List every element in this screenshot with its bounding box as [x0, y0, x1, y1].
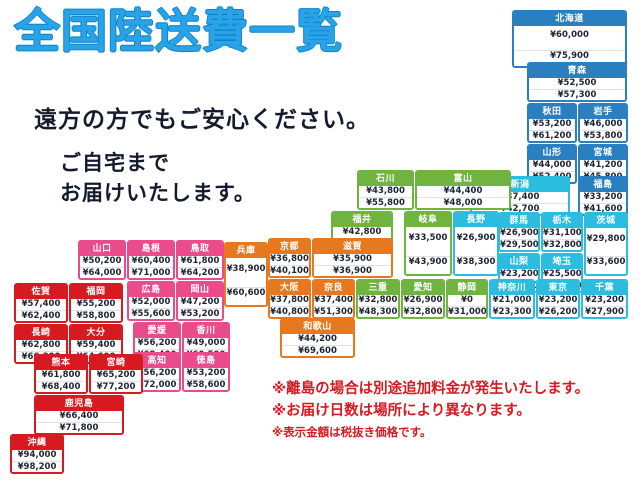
prefecture-box-wakayama: 和歌山¥44,200¥69,600 — [280, 318, 355, 358]
price-values: ¥52,500¥57,300 — [529, 78, 625, 101]
prefecture-box-kagoshima: 鹿児島¥66,400¥71,800 — [34, 395, 124, 435]
price-values: ¥55,200¥58,800 — [71, 299, 121, 322]
price-value-1: ¥56,200 — [135, 338, 179, 349]
price-values: ¥53,200¥61,200 — [529, 119, 575, 142]
footnote-3: ※表示金額は税抜き価格です。 — [272, 422, 636, 442]
price-value-1: ¥44,400 — [417, 186, 509, 197]
price-value-1: ¥29,800 — [586, 234, 626, 245]
price-value-1: ¥60,400 — [129, 256, 173, 267]
prefecture-box-fukushima: 福島¥33,200¥41,600 — [578, 176, 628, 216]
prefecture-box-gunma: 群馬¥26,900¥29,500 — [498, 212, 540, 252]
prefecture-name-label: 山口 — [80, 242, 124, 256]
prefecture-box-tokushima: 徳島¥53,200¥58,600 — [182, 352, 230, 392]
price-value-1: ¥47,200 — [178, 297, 222, 308]
prefecture-box-aomori: 青森¥52,500¥57,300 — [527, 62, 627, 102]
price-value-2: ¥23,300 — [491, 306, 533, 318]
price-value-1: ¥42,800 — [333, 227, 391, 238]
price-values: ¥61,800¥68,400 — [36, 370, 86, 393]
prefecture-box-nara: 奈良¥37,400¥51,300 — [312, 279, 355, 319]
prefecture-name-label: 岡山 — [178, 283, 222, 297]
prefecture-name-label: 広島 — [129, 283, 173, 297]
price-values: ¥46,000¥53,800 — [580, 119, 626, 142]
prefecture-box-saga: 佐賀¥57,400¥62,400 — [14, 283, 68, 323]
price-value-2: ¥26,200 — [538, 306, 578, 318]
prefecture-name-label: 福岡 — [71, 285, 121, 299]
prefecture-box-tottori: 鳥取¥61,800¥64,200 — [176, 240, 224, 280]
prefecture-name-label: 富山 — [417, 172, 509, 186]
price-value-1: ¥53,200 — [529, 119, 575, 130]
price-values: ¥43,800¥55,800 — [359, 186, 412, 209]
price-value-2: ¥61,200 — [529, 130, 575, 142]
price-value-1: ¥44,200 — [282, 334, 353, 345]
prefecture-name-label: 福井 — [333, 213, 391, 227]
prefecture-box-shiga: 滋賀¥35,900¥36,900 — [312, 238, 393, 278]
prefecture-box-kumamoto: 熊本¥61,800¥68,400 — [34, 354, 88, 394]
price-value-1: ¥32,800 — [358, 295, 398, 306]
prefecture-name-label: 和歌山 — [282, 320, 353, 334]
prefecture-name-label: 東京 — [538, 281, 578, 295]
price-values: ¥29,800¥33,600 — [586, 228, 626, 274]
price-values: ¥60,000¥75,900 — [514, 26, 625, 66]
price-values: ¥23,200¥26,200 — [538, 295, 578, 318]
price-value-1: ¥33,500 — [406, 233, 450, 244]
price-value-2: ¥48,000 — [417, 197, 509, 209]
prefecture-name-label: 熊本 — [36, 356, 86, 370]
prefecture-name-label: 島根 — [129, 242, 173, 256]
price-values: ¥44,200¥69,600 — [282, 334, 353, 357]
prefecture-box-hiroshima: 広島¥52,000¥55,600 — [127, 281, 175, 321]
price-values: ¥31,100¥32,800 — [543, 228, 581, 251]
prefecture-box-toyama: 富山¥44,400¥48,000 — [415, 170, 511, 210]
prefecture-name-label: 北海道 — [514, 12, 625, 26]
price-value-1: ¥31,100 — [543, 228, 581, 239]
prefecture-name-label: 静岡 — [448, 281, 486, 295]
price-value-2: ¥71,000 — [129, 267, 173, 279]
price-value-2: ¥38,300 — [455, 256, 497, 268]
price-values: ¥36,800¥40,100 — [270, 254, 309, 277]
prefecture-box-akita: 秋田¥53,200¥61,200 — [527, 103, 577, 143]
price-value-1: ¥50,200 — [80, 256, 124, 267]
price-value-1: ¥21,000 — [491, 295, 533, 306]
prefecture-box-gifu: 岐阜¥33,500¥43,900 — [404, 211, 452, 276]
prefecture-box-kanagawa: 神奈川¥21,000¥23,300 — [489, 279, 535, 319]
price-value-1: ¥23,200 — [538, 295, 578, 306]
price-value-2: ¥71,800 — [36, 422, 122, 434]
price-value-1: ¥0 — [448, 295, 486, 306]
price-value-1: ¥26,900 — [455, 233, 497, 244]
price-value-1: ¥94,000 — [12, 450, 62, 461]
price-value-2: ¥64,000 — [80, 267, 124, 279]
prefecture-box-chiba: 千葉¥23,200¥27,900 — [581, 279, 628, 319]
price-value-1: ¥52,500 — [529, 78, 625, 89]
prefecture-box-shizuoka: 静岡¥0¥31,000 — [446, 279, 488, 319]
prefecture-name-label: 宮城 — [580, 146, 626, 160]
prefecture-box-kyoto: 京都¥36,800¥40,100 — [268, 238, 311, 278]
price-values: ¥23,200¥27,900 — [583, 295, 626, 318]
prefecture-name-label: 山梨 — [500, 255, 538, 269]
prefecture-box-yamaguchi: 山口¥50,200¥64,000 — [78, 240, 126, 280]
prefecture-box-hokkaido: 北海道¥60,000¥75,900 — [512, 10, 627, 68]
prefecture-box-tokyo: 東京¥23,200¥26,200 — [536, 279, 580, 319]
price-values: ¥50,200¥64,000 — [80, 256, 124, 279]
price-value-2: ¥68,400 — [36, 381, 86, 393]
price-value-1: ¥37,800 — [270, 295, 309, 306]
price-values: ¥26,900¥38,300 — [455, 227, 497, 274]
price-value-2: ¥33,600 — [586, 256, 626, 268]
subtitle-line-2: ご自宅まで お届けいたします。 — [60, 148, 256, 208]
price-values: ¥26,900¥32,800 — [403, 295, 443, 318]
price-values: ¥32,800¥48,300 — [358, 295, 398, 318]
price-values: ¥21,000¥23,300 — [491, 295, 533, 318]
price-values: ¥57,400¥62,400 — [16, 299, 66, 322]
prefecture-name-label: 宮崎 — [91, 356, 141, 370]
prefecture-name-label: 愛媛 — [135, 324, 179, 338]
prefecture-name-label: 山形 — [529, 146, 575, 160]
prefecture-name-label: 滋賀 — [314, 240, 391, 254]
subtitle-line-1: 遠方の方でもご安心ください。 — [34, 100, 370, 134]
price-value-2: ¥69,600 — [282, 345, 353, 357]
prefecture-name-label: 岐阜 — [406, 213, 450, 227]
price-values: ¥26,900¥29,500 — [500, 228, 538, 251]
price-values: ¥33,500¥43,900 — [406, 227, 450, 274]
prefecture-box-shimane: 島根¥60,400¥71,000 — [127, 240, 175, 280]
prefecture-name-label: 栃木 — [543, 214, 581, 228]
price-value-2: ¥53,200 — [178, 308, 222, 320]
prefecture-name-label: 大分 — [71, 326, 121, 340]
prefecture-box-okinawa: 沖縄¥94,000¥98,200 — [10, 434, 64, 474]
prefecture-name-label: 福島 — [580, 178, 626, 192]
price-values: ¥38,900¥60,600 — [226, 258, 266, 305]
prefecture-box-hyogo: 兵庫¥38,900¥60,600 — [224, 242, 268, 307]
price-value-1: ¥52,000 — [129, 297, 173, 308]
price-value-2: ¥29,500 — [500, 239, 538, 251]
prefecture-name-label: 埼玉 — [543, 255, 581, 269]
price-values: ¥53,200¥58,600 — [184, 368, 228, 391]
price-value-1: ¥65,200 — [91, 370, 141, 381]
footnote-2: ※お届け日数は場所により異なります。 — [272, 400, 636, 422]
price-value-2: ¥60,600 — [226, 287, 266, 299]
price-value-2: ¥32,800 — [543, 239, 581, 251]
price-value-2: ¥62,400 — [16, 310, 66, 322]
price-value-1: ¥60,000 — [514, 30, 625, 41]
prefecture-name-label: 三重 — [358, 281, 398, 295]
prefecture-name-label: 愛知 — [403, 281, 443, 295]
price-values: ¥0¥31,000 — [448, 295, 486, 318]
price-value-1: ¥37,400 — [314, 295, 353, 306]
prefecture-name-label: 佐賀 — [16, 285, 66, 299]
price-value-2: ¥40,100 — [270, 265, 309, 277]
prefecture-name-label: 神奈川 — [491, 281, 533, 295]
price-values: ¥66,400¥71,800 — [36, 411, 122, 434]
subtitle-line-2a: ご自宅まで — [60, 148, 256, 178]
prefecture-name-label: 秋田 — [529, 105, 575, 119]
price-value-1: ¥57,400 — [16, 299, 66, 310]
footnote-list: ※離島の場合は別途追加料金が発生いたします。※お届け日数は場所により異なります。… — [272, 378, 636, 442]
prefecture-name-label: 青森 — [529, 64, 625, 78]
price-value-1: ¥41,200 — [580, 160, 626, 171]
price-values: ¥94,000¥98,200 — [12, 450, 62, 473]
prefecture-name-label: 沖縄 — [12, 436, 62, 450]
price-value-1: ¥26,900 — [500, 228, 538, 239]
price-value-2: ¥77,200 — [91, 381, 141, 393]
prefecture-name-label: 徳島 — [184, 354, 228, 368]
footnote-1: ※離島の場合は別途追加料金が発生いたします。 — [272, 378, 636, 400]
price-value-1: ¥53,200 — [184, 368, 228, 379]
price-value-1: ¥23,200 — [583, 295, 626, 306]
prefecture-box-aichi: 愛知¥26,900¥32,800 — [401, 279, 445, 319]
prefecture-box-mie: 三重¥32,800¥48,300 — [356, 279, 400, 319]
price-value-1: ¥61,800 — [178, 256, 222, 267]
prefecture-name-label: 群馬 — [500, 214, 538, 228]
price-values: ¥37,400¥51,300 — [314, 295, 353, 318]
price-value-2: ¥36,900 — [314, 265, 391, 277]
price-values: ¥44,400¥48,000 — [417, 186, 509, 209]
price-value-2: ¥32,800 — [403, 306, 443, 318]
prefecture-box-miyazaki: 宮崎¥65,200¥77,200 — [89, 354, 143, 394]
page-title: 全国陸送費一覧 — [14, 8, 343, 54]
prefecture-box-ishikawa: 石川¥43,800¥55,800 — [357, 170, 414, 210]
price-value-1: ¥44,000 — [529, 160, 575, 171]
price-values: ¥65,200¥77,200 — [91, 370, 141, 393]
price-values: ¥60,400¥71,000 — [129, 256, 173, 279]
price-values: ¥61,800¥64,200 — [178, 256, 222, 279]
prefecture-name-label: 茨城 — [586, 214, 626, 228]
price-value-2: ¥58,600 — [184, 379, 228, 391]
price-value-1: ¥36,800 — [270, 254, 309, 265]
price-value-1: ¥49,000 — [184, 338, 228, 349]
subtitle-line-2b: お届けいたします。 — [60, 178, 256, 208]
prefecture-name-label: 長崎 — [16, 326, 66, 340]
price-value-1: ¥55,200 — [71, 299, 121, 310]
price-value-1: ¥38,900 — [226, 264, 266, 275]
shipping-fee-infographic: 全国陸送費一覧 遠方の方でもご安心ください。 ご自宅まで お届けいたします。 北… — [0, 0, 640, 480]
prefecture-box-fukuoka: 福岡¥55,200¥58,800 — [69, 283, 123, 323]
prefecture-name-label: 香川 — [184, 324, 228, 338]
price-value-1: ¥61,800 — [36, 370, 86, 381]
prefecture-name-label: 鹿児島 — [36, 397, 122, 411]
price-value-2: ¥31,000 — [448, 306, 486, 318]
price-value-2: ¥64,200 — [178, 267, 222, 279]
price-values: ¥37,800¥40,800 — [270, 295, 309, 318]
prefecture-name-label: 岩手 — [580, 105, 626, 119]
price-value-2: ¥43,900 — [406, 256, 450, 268]
prefecture-box-tochigi: 栃木¥31,100¥32,800 — [541, 212, 583, 252]
prefecture-name-label: 大阪 — [270, 281, 309, 295]
price-value-1: ¥43,800 — [359, 186, 412, 197]
prefecture-name-label: 兵庫 — [226, 244, 266, 258]
prefecture-box-okayama: 岡山¥47,200¥53,200 — [176, 281, 224, 321]
price-value-1: ¥35,900 — [314, 254, 391, 265]
price-value-2: ¥58,800 — [71, 310, 121, 322]
price-value-1: ¥46,000 — [580, 119, 626, 130]
prefecture-name-label: 長野 — [455, 213, 497, 227]
price-value-2: ¥40,800 — [270, 306, 309, 318]
prefecture-name-label: 奈良 — [314, 281, 353, 295]
prefecture-box-nagano: 長野¥26,900¥38,300 — [453, 211, 499, 276]
price-values: ¥35,900¥36,900 — [314, 254, 391, 277]
prefecture-name-label: 京都 — [270, 240, 309, 254]
price-values: ¥52,000¥55,600 — [129, 297, 173, 320]
price-value-2: ¥48,300 — [358, 306, 398, 318]
price-value-2: ¥27,900 — [583, 306, 626, 318]
price-value-2: ¥75,900 — [514, 50, 625, 62]
price-value-2: ¥98,200 — [12, 461, 62, 473]
prefecture-box-iwate: 岩手¥46,000¥53,800 — [578, 103, 628, 143]
price-value-1: ¥33,200 — [580, 192, 626, 203]
price-values: ¥47,200¥53,200 — [178, 297, 222, 320]
price-value-2: ¥55,600 — [129, 308, 173, 320]
price-value-2: ¥55,800 — [359, 197, 412, 209]
price-value-1: ¥26,900 — [403, 295, 443, 306]
price-value-2: ¥53,800 — [580, 130, 626, 142]
prefecture-box-ibaraki: 茨城¥29,800¥33,600 — [584, 212, 628, 276]
prefecture-name-label: 鳥取 — [178, 242, 222, 256]
prefecture-box-osaka: 大阪¥37,800¥40,800 — [268, 279, 311, 319]
price-value-1: ¥59,400 — [71, 340, 121, 351]
prefecture-name-label: 石川 — [359, 172, 412, 186]
price-value-2: ¥51,300 — [314, 306, 353, 318]
price-value-1: ¥62,800 — [16, 340, 66, 351]
price-value-1: ¥66,400 — [36, 411, 122, 422]
price-value-2: ¥57,300 — [529, 89, 625, 101]
prefecture-name-label: 千葉 — [583, 281, 626, 295]
